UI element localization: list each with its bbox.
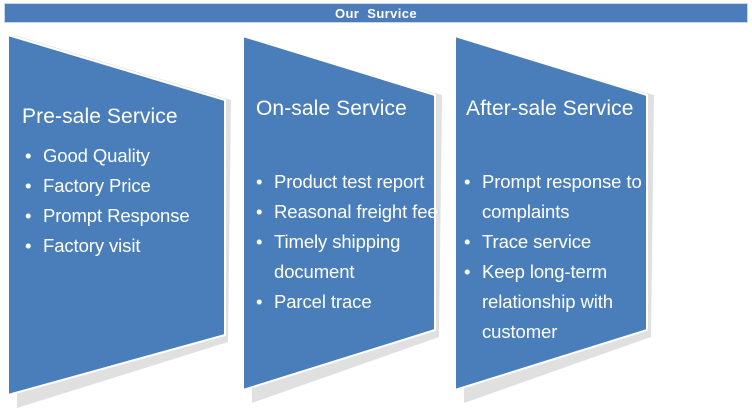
bullet-item: Trace service <box>464 227 654 257</box>
bullet-item: Parcel trace <box>256 287 441 317</box>
page-title: Our Survice <box>335 7 417 20</box>
bullet-item: Good Quality <box>25 141 225 171</box>
header-banner: Our Survice <box>4 3 748 23</box>
panel-heading-pre-sale: Pre-sale Service <box>22 104 232 130</box>
panel-heading-on-sale: On-sale Service <box>256 96 416 122</box>
bullet-item: Factory visit <box>25 231 225 261</box>
panel-content-pre-sale: Pre-sale Service Good Quality Factory Pr… <box>0 24 252 417</box>
bullet-item: Timely shipping document <box>256 227 441 287</box>
bullet-item: Reasonal freight fee <box>256 197 441 227</box>
bullet-item: Keep long-term relationship with custome… <box>464 257 654 347</box>
bullet-item: Factory Price <box>25 171 225 201</box>
bullet-list-pre-sale: Good Quality Factory Price Prompt Respon… <box>25 141 225 261</box>
bullet-item: Prompt Response <box>25 201 225 231</box>
bullet-list-after-sale: Prompt response to complaints Trace serv… <box>464 167 654 347</box>
bullet-item: Prompt response to complaints <box>464 167 654 227</box>
panel-pre-sale[interactable]: Pre-sale Service Good Quality Factory Pr… <box>0 24 252 417</box>
bullet-list-on-sale: Product test report Reasonal freight fee… <box>256 167 441 317</box>
panel-content-after-sale: After-sale Service Prompt response to co… <box>448 24 700 417</box>
service-infographic: Our Survice Pre-sale Service Good Qualit… <box>0 0 752 417</box>
panel-heading-after-sale: After-sale Service <box>466 96 641 122</box>
bullet-item: Product test report <box>256 167 441 197</box>
panel-group: Pre-sale Service Good Quality Factory Pr… <box>0 24 752 417</box>
panel-after-sale[interactable]: After-sale Service Prompt response to co… <box>448 24 700 417</box>
